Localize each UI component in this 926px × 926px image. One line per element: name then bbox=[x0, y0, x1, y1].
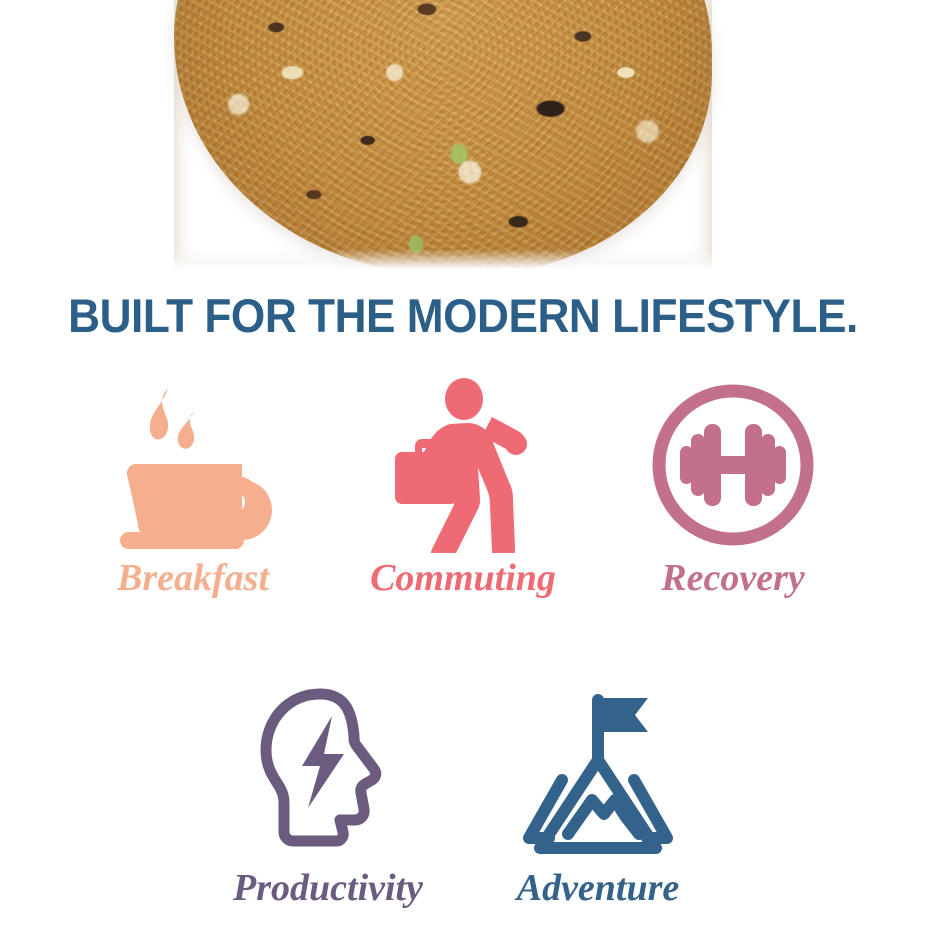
feature-label: Commuting bbox=[370, 559, 556, 597]
head-lightning-bolt-icon bbox=[258, 688, 398, 863]
feature-row-top: Breakfast Commuting bbox=[0, 378, 926, 597]
energy-cookie-image bbox=[174, 0, 712, 275]
feature-label: Breakfast bbox=[117, 559, 269, 597]
dumbbell-in-circle-icon bbox=[651, 378, 816, 553]
feature-row-bottom: Productivity Adventure bbox=[0, 688, 926, 907]
photo-bottom-fade bbox=[0, 249, 926, 275]
feature-productivity[interactable]: Productivity bbox=[193, 688, 463, 907]
feature-label: Recovery bbox=[661, 559, 804, 597]
mountain-flag-icon bbox=[521, 688, 676, 863]
page-title: BUILT FOR THE MODERN LIFESTYLE. bbox=[28, 292, 898, 339]
feature-label: Productivity bbox=[233, 869, 423, 907]
feature-recovery[interactable]: Recovery bbox=[598, 378, 868, 597]
cookie-edge-shading bbox=[174, 0, 712, 275]
feature-label: Adventure bbox=[517, 869, 680, 907]
coffee-cup-icon bbox=[108, 378, 278, 553]
feature-adventure[interactable]: Adventure bbox=[463, 688, 733, 907]
marketing-feature-panel: BUILT FOR THE MODERN LIFESTYLE. Brea bbox=[0, 0, 926, 926]
feature-breakfast[interactable]: Breakfast bbox=[58, 378, 328, 597]
product-photo bbox=[0, 0, 926, 275]
feature-commuting[interactable]: Commuting bbox=[328, 378, 598, 597]
walking-person-briefcase-icon bbox=[388, 378, 538, 553]
